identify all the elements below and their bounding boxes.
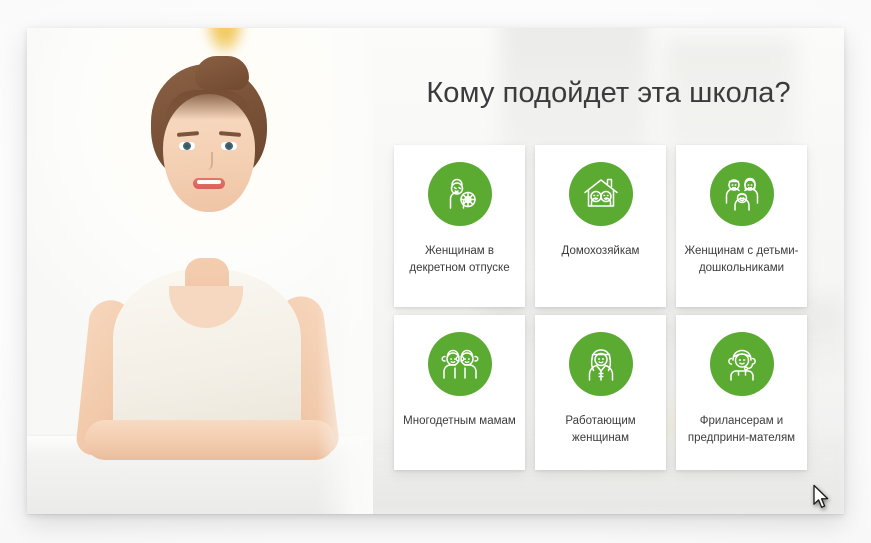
audience-card[interactable]: Домохозяйкам bbox=[535, 145, 666, 307]
businesswoman-icon bbox=[569, 332, 633, 396]
audience-card-label: Женщинам в декретном отпуске bbox=[402, 243, 518, 277]
photo-forearms bbox=[85, 420, 335, 460]
audience-card-label: Многодетным мамам bbox=[402, 413, 518, 430]
two-children-icon bbox=[428, 332, 492, 396]
audience-card[interactable]: Работающим женщинам bbox=[535, 315, 666, 470]
audience-card-label: Женщинам с детьми-дошкольниками bbox=[684, 243, 800, 277]
photo-teeth bbox=[197, 180, 221, 184]
audience-card[interactable]: Женщинам в декретном отпуске bbox=[394, 145, 525, 307]
photo-right-fade bbox=[317, 28, 373, 514]
page-title: Кому подойдет эта школа? bbox=[373, 76, 844, 110]
photo-hair-bun bbox=[195, 56, 249, 90]
audience-card[interactable]: Многодетным мамам bbox=[394, 315, 525, 470]
audience-card-grid: Женщинам в декретном отпуске bbox=[394, 145, 822, 470]
house-with-couple-icon bbox=[569, 162, 633, 226]
audience-card-label: Домохозяйкам bbox=[543, 243, 659, 260]
photo-eye-left bbox=[179, 142, 195, 150]
audience-card-label: Фрилансерам и предприни-мателям bbox=[684, 413, 800, 447]
freelancer-headset-icon bbox=[710, 332, 774, 396]
audience-card-label: Работающим женщинам bbox=[543, 413, 659, 447]
family-with-child-icon bbox=[710, 162, 774, 226]
photo-eye-right bbox=[221, 142, 237, 150]
screenshot-panel: Кому подойдет эта школа? bbox=[27, 28, 844, 514]
hero-photo-woman bbox=[27, 28, 373, 514]
audience-card[interactable]: Женщинам с детьми-дошкольниками bbox=[676, 145, 807, 307]
audience-card[interactable]: Фрилансерам и предприни-мателям bbox=[676, 315, 807, 470]
content-column: Кому подойдет эта школа? bbox=[373, 28, 844, 514]
mother-with-baby-icon bbox=[428, 162, 492, 226]
photo-nose bbox=[205, 152, 213, 170]
photo-fringe bbox=[165, 90, 253, 120]
